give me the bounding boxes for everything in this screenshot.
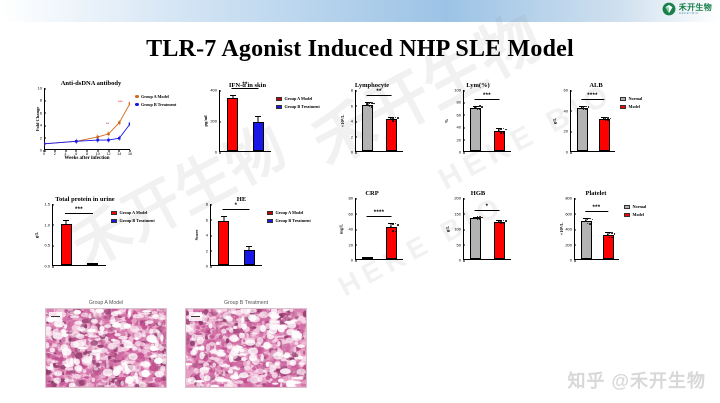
bar-group (356, 90, 403, 151)
y-axis-tick: 6 (206, 217, 210, 222)
x-axis (463, 259, 511, 260)
y-axis-tick: 1.5 (44, 202, 52, 207)
plot-area: Fold Change Weeks after infection 024681… (44, 88, 130, 150)
legend-label: Group A Model (141, 94, 169, 99)
y-axis-tick: 20 (564, 129, 570, 134)
legend-item-treatment: Group B Treatment (111, 218, 155, 223)
error-bar-cap (255, 116, 261, 117)
y-axis-tick: 800 (565, 196, 574, 201)
data-point (477, 106, 479, 108)
data-point (500, 132, 502, 134)
y-axis-label: % (444, 119, 449, 124)
bar-item (220, 90, 246, 151)
data-point (589, 218, 591, 220)
data-point (371, 106, 373, 108)
legend-dot-icon (135, 95, 139, 99)
chart-legend: Normal Model (619, 198, 646, 217)
data-point (477, 218, 479, 220)
data-point (371, 102, 373, 104)
bar (494, 131, 505, 151)
legend-item-normal: Normal (624, 204, 646, 209)
legend-label: Group B Treatment (285, 104, 320, 109)
y-axis-tick: 1.0 (44, 222, 52, 227)
data-point (607, 117, 609, 119)
footer-watermark: 知乎 @禾开生物 (567, 367, 706, 393)
significance-bracket: * (475, 204, 500, 211)
y-axis-tick: 4 (206, 233, 210, 238)
y-axis-tick: 2 (206, 248, 210, 253)
legend-label: Normal (629, 96, 643, 101)
y-axis-label: ×10⁹/L (340, 115, 345, 128)
chart-title: CRP (337, 190, 407, 197)
bar-group (211, 204, 262, 265)
legend-label: Group B Treatment (120, 218, 155, 223)
bar (218, 221, 229, 265)
significance-bracket: *** (65, 207, 93, 214)
bar (87, 263, 98, 265)
data-point (481, 217, 483, 219)
legend-swatch-icon (276, 97, 282, 101)
data-point (611, 237, 613, 239)
y-axis-tick: 200 (454, 196, 463, 201)
scale-bar-icon (189, 312, 202, 321)
y-axis-tick: 0 (215, 150, 219, 155)
bar (603, 235, 614, 259)
data-point (392, 230, 394, 232)
y-axis-tick: 20 (349, 242, 355, 247)
data-point (589, 223, 591, 225)
legend-swatch-icon (620, 97, 626, 101)
error-bar (258, 117, 259, 122)
bar (494, 222, 505, 259)
legend-label: Group B Treatment (141, 102, 176, 107)
y-axis-tick: 60 (457, 112, 463, 117)
data-point (397, 224, 399, 226)
significance-line (475, 210, 500, 211)
bar (599, 119, 610, 151)
histology-label: Group A Model (45, 300, 167, 306)
x-axis (219, 151, 271, 152)
significance-line (65, 213, 93, 214)
y-axis-tick: 40 (564, 108, 570, 113)
bar-item (380, 198, 404, 259)
error-bar (223, 217, 224, 222)
x-axis-tick: 8 (86, 152, 88, 156)
data-point (479, 109, 481, 111)
logo-company-pinyin: HEKEYBIO (679, 12, 712, 15)
y-axis-tick: 0.0 (44, 264, 52, 269)
significance-line (585, 211, 608, 212)
x-axis (355, 151, 403, 152)
bar-group (356, 198, 403, 259)
bar (386, 119, 397, 151)
y-axis-tick: 80 (349, 196, 355, 201)
data-point (503, 132, 505, 134)
legend-item-model: Model (624, 212, 646, 217)
y-axis-tick: 400 (210, 88, 219, 93)
data-point (366, 103, 368, 105)
data-point (395, 121, 397, 123)
chart-hgb: HGB g/L 050100150200* (443, 190, 513, 260)
data-point (500, 128, 502, 130)
data-point (503, 220, 505, 222)
y-axis-tick: 200 (210, 119, 219, 124)
bar (470, 108, 481, 151)
error-bar-cap (365, 257, 371, 258)
legend-item-model: Group A Model (276, 96, 320, 101)
legend-label: Group A Model (276, 210, 304, 215)
x-axis (355, 259, 403, 260)
y-axis-tick: 40 (349, 227, 355, 232)
x-axis-tick: 14 (117, 152, 121, 156)
legend-swatch-icon (624, 205, 630, 209)
data-point (610, 118, 612, 120)
y-axis-tick: 8 (206, 202, 210, 207)
chart-title: HE (148, 196, 335, 203)
y-axis-tick: 0 (351, 150, 355, 155)
legend-item-model: Group A Model (267, 210, 311, 215)
legend-item-treatment: Group B Treatment (135, 102, 176, 107)
significance-line (581, 99, 604, 100)
bar (253, 122, 264, 151)
data-point (395, 231, 397, 233)
y-axis-tick: 60 (564, 88, 570, 93)
bar-item (380, 90, 404, 151)
y-axis-tick: 0 (566, 150, 570, 155)
data-point (605, 120, 607, 122)
data-point (607, 120, 609, 122)
bar-item (211, 204, 237, 265)
legend-label: Model (633, 212, 644, 217)
histology-image (45, 308, 167, 388)
x-axis (570, 151, 615, 152)
bar (386, 227, 397, 259)
error-bar-cap (230, 95, 236, 96)
error-bar (249, 247, 250, 250)
bar (581, 221, 592, 259)
histology-label: Group B Treatment (185, 300, 307, 306)
legend-label: Group A Model (120, 210, 148, 215)
x-axis-tick: 2 (54, 152, 56, 156)
data-point (585, 108, 587, 110)
error-bar (232, 96, 233, 99)
y-axis-tick: 40 (457, 125, 463, 130)
y-axis-label: pg/ml (203, 115, 208, 126)
error-bar-cap (246, 246, 252, 247)
x-axis-tick: 6 (75, 152, 77, 156)
x-axis (463, 151, 511, 152)
y-axis-tick: 8 (351, 88, 355, 93)
chart-title: ALB (510, 82, 682, 89)
plot-area: g/L 050100150200* (463, 198, 511, 260)
data-point (474, 217, 476, 219)
bar-item (356, 90, 380, 151)
histology-panel-b: Group B Treatment (185, 300, 307, 388)
data-point (503, 128, 505, 130)
data-point (614, 233, 616, 235)
legend-item-normal: Normal (620, 96, 642, 101)
chart-legend: Normal Model (615, 90, 642, 109)
bar-item (246, 90, 272, 151)
chart-total-protein-urine: Total protein in urine g/L 0.00.51.01.5*… (30, 196, 180, 266)
significance-bracket: **** (581, 93, 604, 100)
x-axis (574, 259, 619, 260)
error-bar (66, 221, 67, 224)
data-point (505, 220, 507, 222)
histology-image (185, 308, 307, 388)
chart-legend: Group A Model Group B Treatment (262, 204, 311, 223)
y-axis-tick: 0 (570, 258, 574, 263)
y-axis-tick: 6 (351, 103, 355, 108)
data-point (500, 222, 502, 224)
legend-swatch-icon (276, 105, 282, 109)
legend-label: Normal (633, 204, 647, 209)
chart-he-score: HE Score 02468* Group A Model Group B Tr… (190, 196, 335, 266)
legend-item-model: Model (620, 104, 642, 109)
plot-area: g/L 0.00.51.01.5*** (52, 204, 106, 266)
y-axis-label: g/L (34, 232, 39, 239)
x-axis-tick: 4 (65, 152, 67, 156)
y-axis-label: ×10⁹/L (559, 223, 564, 236)
legend-swatch-icon (267, 211, 273, 215)
significance-bracket: * (222, 203, 249, 210)
significance-stars: *** (118, 99, 123, 104)
data-point (369, 102, 371, 104)
data-point (397, 117, 399, 119)
y-axis-tick: 150 (454, 211, 463, 216)
chart-legend: Group A Model Group B Treatment (106, 204, 155, 223)
data-point (503, 223, 505, 225)
bar (470, 218, 481, 259)
y-axis-tick: 0.5 (44, 243, 52, 248)
plot-area: % 020406080100*** (463, 90, 511, 152)
bar (577, 108, 588, 151)
data-point (395, 117, 397, 119)
data-point (587, 223, 589, 225)
chart-legend: Group A Model Group B Treatment (130, 88, 176, 107)
y-axis-tick: 0 (459, 258, 463, 263)
chart-title: Lymphocyte (337, 82, 407, 89)
y-axis-tick: 2 (351, 134, 355, 139)
line-series-group (44, 88, 130, 150)
y-axis-tick: 0 (351, 258, 355, 263)
bar (61, 224, 72, 265)
diamond-logo-icon (662, 2, 676, 16)
significance-line (231, 88, 258, 89)
data-point (474, 107, 476, 109)
watermark-1: 禾开生物 (293, 0, 554, 183)
legend-swatch-icon (620, 105, 626, 109)
chart-crp: CRP mg/L 020406080**** (337, 190, 407, 260)
plot-area: pg/ml 0200400** (219, 90, 271, 152)
legend-label: Group A Model (285, 96, 313, 101)
page-title: TLR-7 Agonist Induced NHP SLE Model (0, 36, 720, 63)
chart-lym-percent: Lym(%) % 020406080100*** (443, 82, 513, 152)
data-point (481, 106, 483, 108)
plot-area: g/L 0204060**** (570, 90, 615, 152)
bar-item (356, 198, 380, 259)
significance-bracket: *** (475, 93, 500, 100)
data-point (392, 117, 394, 119)
legend-item-treatment: Group B Treatment (276, 104, 320, 109)
scale-bar-icon (49, 312, 62, 321)
legend-label: Group B Treatment (276, 218, 311, 223)
bar-group (220, 90, 271, 151)
data-point (395, 223, 397, 225)
x-axis-label: Weeks after infection (44, 156, 130, 161)
significance-bracket: *** (585, 205, 608, 212)
bar (244, 250, 255, 266)
significance-line (475, 99, 500, 100)
legend-dot-icon (135, 103, 139, 107)
legend-swatch-icon (267, 219, 273, 223)
top-banner (0, 0, 720, 22)
x-axis-tick: 0 (43, 152, 45, 156)
error-bar-cap (221, 216, 227, 217)
x-axis-tick: 10 (96, 152, 100, 156)
data-point (392, 120, 394, 122)
y-axis-tick: 0 (459, 150, 463, 155)
significance-line (367, 216, 392, 217)
data-point (505, 129, 507, 131)
data-point (585, 106, 587, 108)
y-axis-label: g/L (445, 226, 450, 233)
y-axis-tick: 100 (454, 227, 463, 232)
data-point (392, 224, 394, 226)
chart-alb: ALB g/L 0204060**** Normal Model (552, 82, 682, 152)
y-axis-label: g/L (552, 118, 557, 125)
data-point (611, 232, 613, 234)
y-axis-tick: 100 (454, 88, 463, 93)
significance-bracket: ** (367, 89, 392, 96)
y-axis-tick: 60 (349, 211, 355, 216)
bar (362, 257, 373, 259)
significance-bracket: **** (367, 210, 392, 217)
significance-bracket: ** (231, 82, 258, 89)
significance-line (222, 209, 249, 210)
data-point (592, 219, 594, 221)
significance-line (367, 95, 392, 96)
plot-area: ×10⁹/L 02468** (355, 90, 403, 152)
plot-area: ×10⁹/L 0200400600800*** (574, 198, 619, 260)
legend-item-model: Group A Model (111, 210, 155, 215)
data-point (588, 106, 590, 108)
data-point (373, 103, 375, 105)
data-point (603, 118, 605, 120)
data-point (583, 108, 585, 110)
legend-label: Model (629, 104, 640, 109)
histology-panel-a: Group A Model (45, 300, 167, 388)
y-axis-tick: 50 (457, 242, 463, 247)
legend-item-treatment: Group B Treatment (267, 218, 311, 223)
y-axis-tick: 600 (565, 211, 574, 216)
bar-item (237, 204, 263, 265)
bar (362, 105, 373, 152)
x-axis-tick: 12 (107, 152, 111, 156)
data-point (609, 237, 611, 239)
chart-title: Platelet (510, 190, 682, 197)
chart-anti-dsdna: Anti-dsDNA antibody Fold Change Weeks af… (28, 80, 196, 150)
y-axis-tick: 4 (351, 119, 355, 124)
plot-area: Score 02468* (210, 204, 262, 266)
chart-ifn-a-skin: IFN-α in skin pg/ml 0200400** Group A Mo… (205, 82, 330, 152)
data-point (479, 218, 481, 220)
plot-area: mg/L 020406080**** (355, 198, 403, 260)
significance-stars: ** (106, 121, 109, 126)
legend-swatch-icon (111, 211, 117, 215)
x-axis (210, 265, 262, 266)
chart-legend: Group A Model Group B Treatment (271, 90, 320, 109)
data-point (479, 216, 481, 218)
y-axis-tick: 200 (565, 242, 574, 247)
bar (227, 98, 238, 151)
chart-lymphocyte: Lymphocyte ×10⁹/L 02468** (337, 82, 407, 152)
data-point (479, 105, 481, 107)
chart-platelet: Platelet ×10⁹/L 0200400600800*** Normal … (552, 190, 682, 260)
y-axis-tick: 400 (565, 227, 574, 232)
y-axis-tick: 20 (457, 137, 463, 142)
brand-logo: 禾开生物 HEKEYBIO (662, 2, 712, 16)
y-axis-tick: 80 (457, 100, 463, 105)
y-axis-tick: 0 (206, 264, 210, 269)
x-axis-tick: 16 (128, 152, 132, 156)
y-axis-label: Score (194, 230, 199, 241)
error-bar-cap (63, 220, 69, 221)
legend-swatch-icon (624, 213, 630, 217)
legend-swatch-icon (111, 219, 117, 223)
data-point (369, 106, 371, 108)
data-point (477, 108, 479, 110)
legend-item-model: Group A Model (135, 94, 176, 99)
y-axis-label: mg/L (339, 224, 344, 234)
x-axis (52, 265, 106, 266)
